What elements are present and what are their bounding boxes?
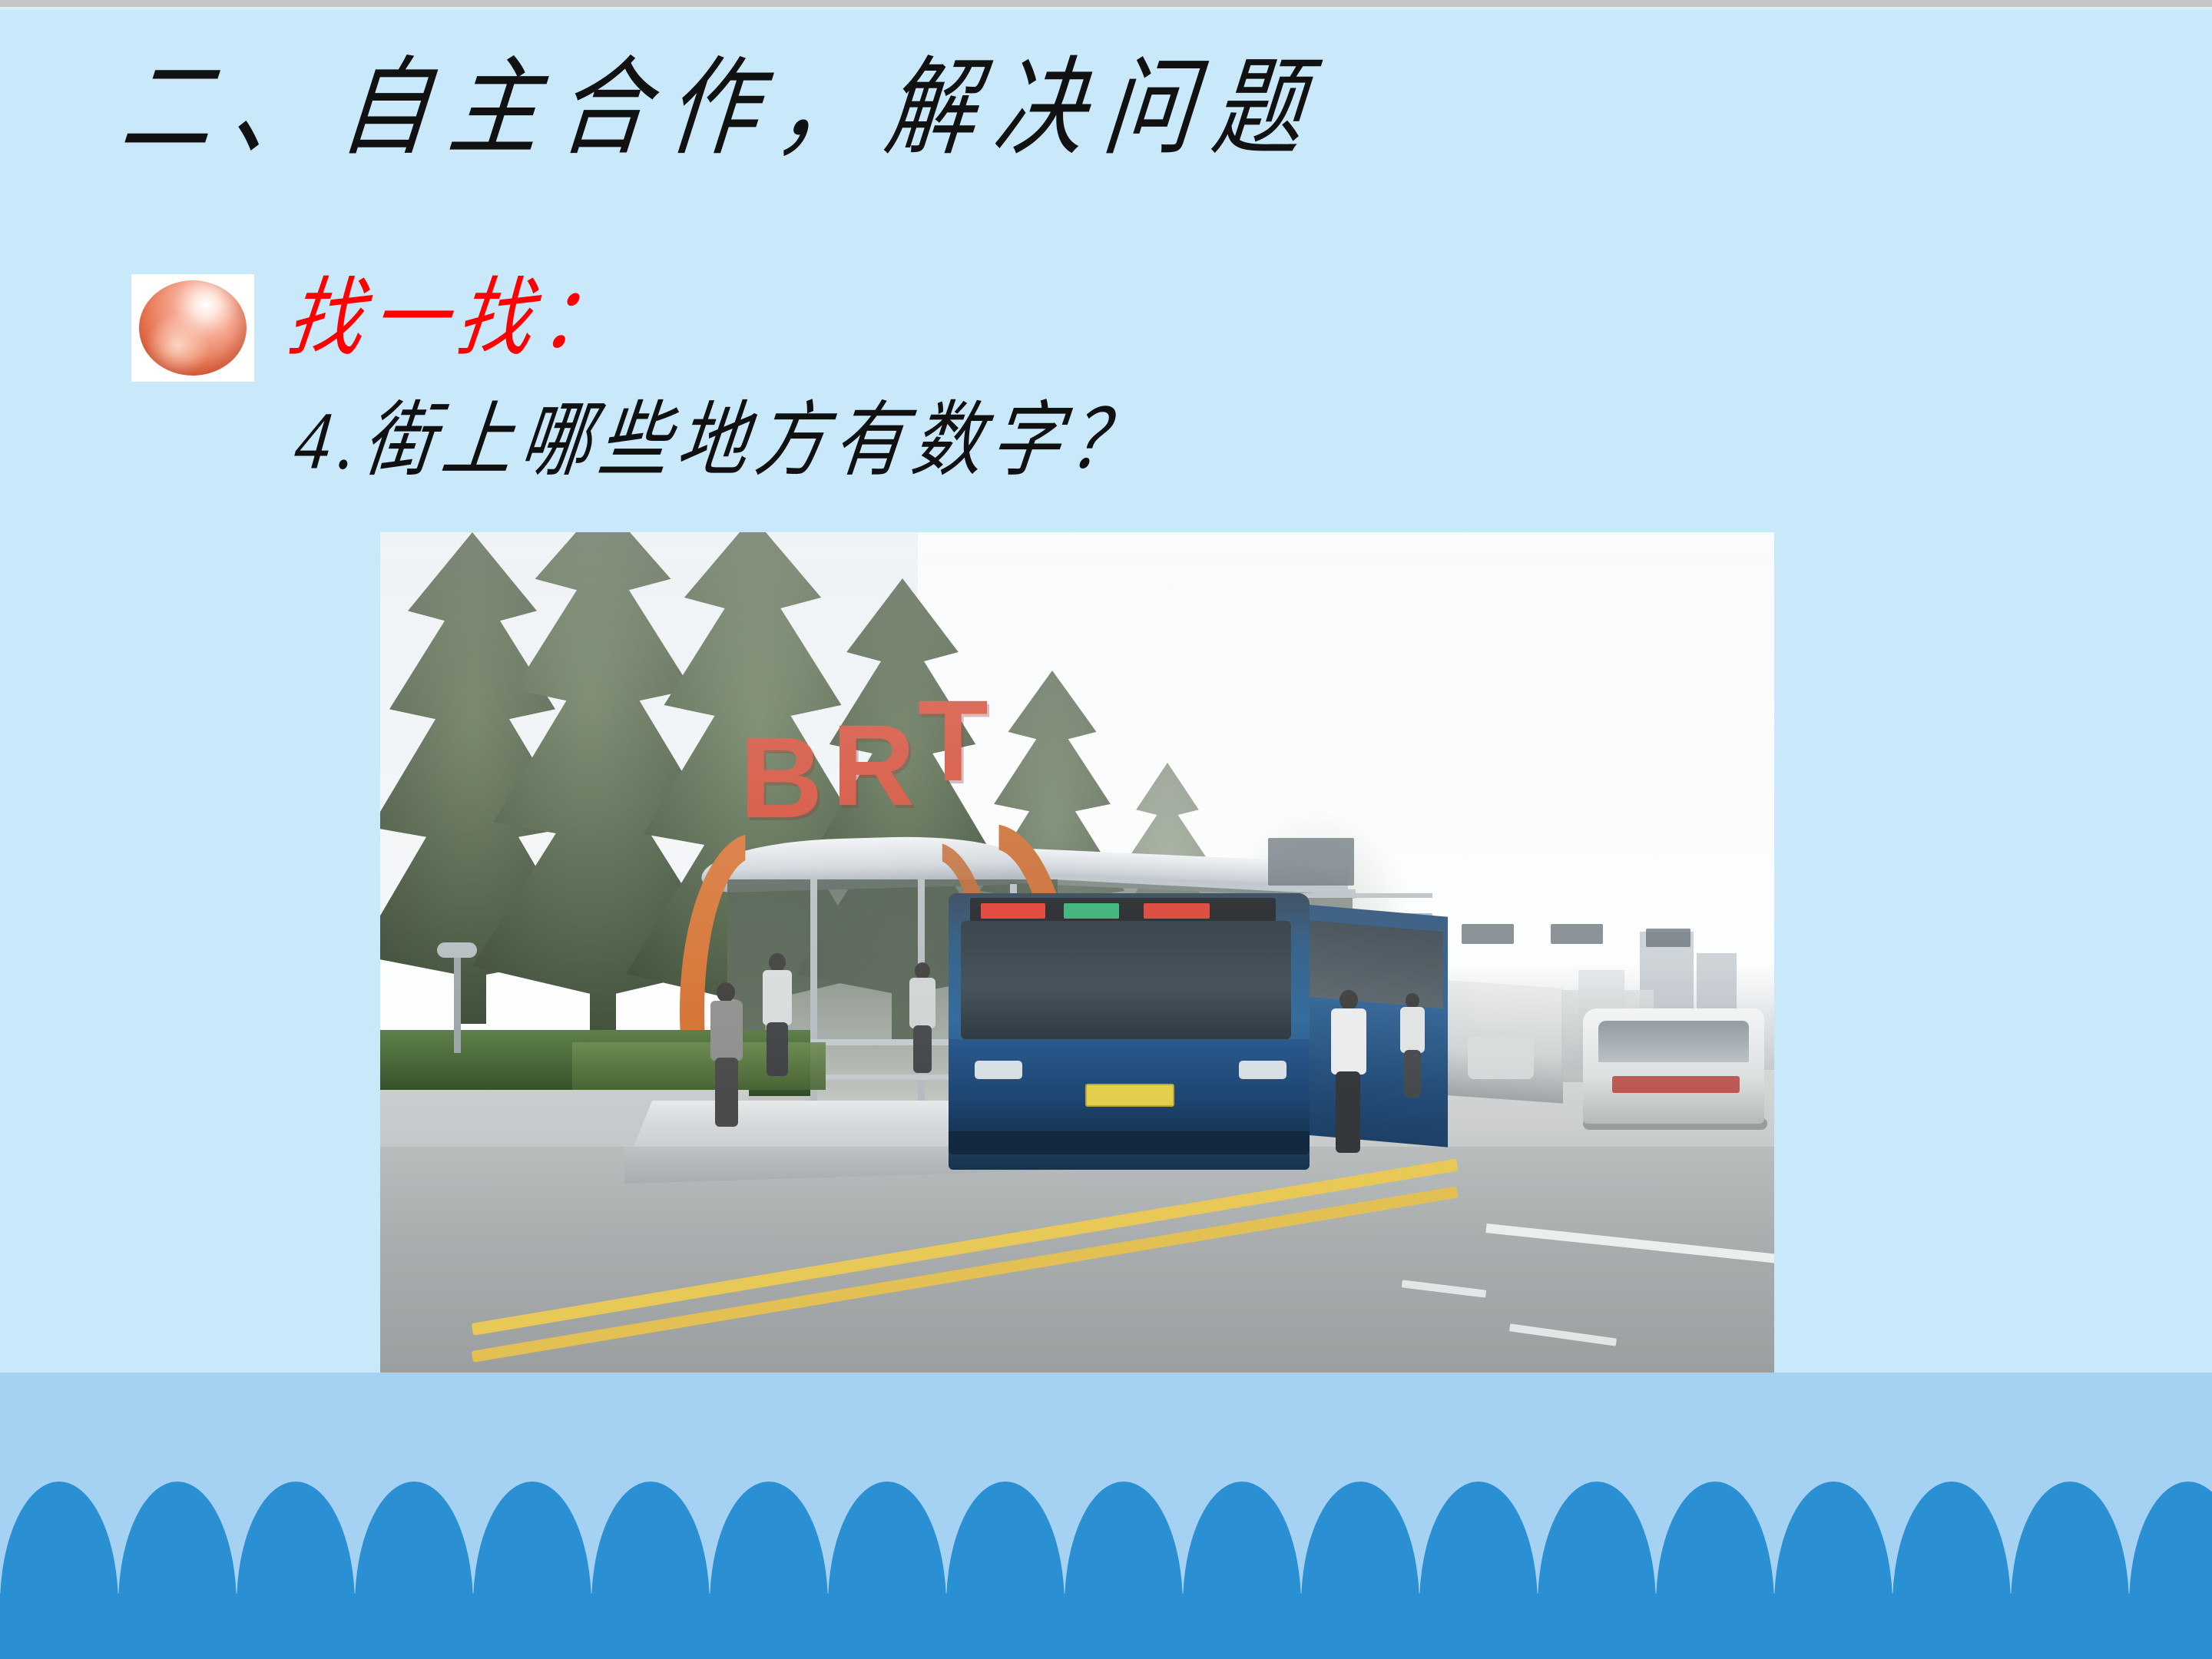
scallop-bump (1479, 1594, 1597, 1659)
street-lamp-head (437, 942, 477, 958)
brt-letter-r: R (832, 707, 919, 823)
red-sphere-bullet-icon (131, 274, 254, 382)
distant-car (1468, 1036, 1534, 1079)
question-text: 4.街上哪些地方有数字？ (291, 399, 1153, 482)
scallop-bump (0, 1594, 59, 1659)
brt-station-photo: B R T (380, 532, 1774, 1465)
scallop-bump (887, 1594, 1005, 1659)
traffic-gantry-arm (1302, 893, 1432, 898)
brt-letter-b: B (740, 720, 827, 835)
sphere-glyph (139, 280, 247, 376)
bottom-decorative-band (0, 1373, 2212, 1659)
scallop-bump (1715, 1594, 1833, 1659)
scallop-bump (1952, 1594, 2070, 1659)
top-gray-bar (0, 0, 2212, 7)
page-title: 二、自主合作，解决问题 (116, 48, 1329, 171)
led-segment-red (981, 903, 1045, 919)
scallop-bump (2188, 1594, 2212, 1659)
scallop-bump (2070, 1594, 2188, 1659)
scallop-bump (59, 1594, 177, 1659)
brt-letter-t: T (918, 683, 993, 798)
scallop-bump (1124, 1594, 1242, 1659)
overhead-sign (1646, 929, 1690, 947)
bus-led-destination-display (970, 898, 1276, 924)
scallop-bump (769, 1594, 887, 1659)
van-rear-window (1598, 1021, 1749, 1062)
section-heading-find: 找一找： (283, 276, 631, 363)
top-bar-highlight (0, 7, 2212, 10)
scallop-bump (1242, 1594, 1360, 1659)
scallop-row-bottom (0, 1594, 2212, 1659)
scallop-bump (1360, 1594, 1479, 1659)
van-tail-light (1612, 1076, 1740, 1093)
scallop-bump (1833, 1594, 1952, 1659)
bus-side-window (1299, 919, 1443, 1008)
bus-headlight (975, 1061, 1022, 1079)
overhead-sign (1551, 924, 1603, 944)
scallop-bump (532, 1594, 651, 1659)
bus-headlight (1239, 1061, 1286, 1079)
overhead-sign (1268, 838, 1354, 886)
scallop-bump (1597, 1594, 1715, 1659)
scallop-bump (296, 1594, 414, 1659)
bus-license-plate (1085, 1084, 1174, 1107)
bus-bumper (949, 1131, 1310, 1154)
bus-windshield (961, 921, 1291, 1039)
led-segment-green (1064, 903, 1119, 919)
scallop-bump (651, 1594, 769, 1659)
led-segment-red (1144, 903, 1210, 919)
slide-canvas: 二、自主合作，解决问题 找一找： 4.街上哪些地方有数字？ B R T (0, 0, 2212, 1659)
scallop-bump (1005, 1594, 1124, 1659)
scallop-bump (414, 1594, 532, 1659)
street-lamp-pole (454, 953, 461, 1053)
overhead-sign (1462, 924, 1514, 944)
scallop-bump (177, 1594, 296, 1659)
